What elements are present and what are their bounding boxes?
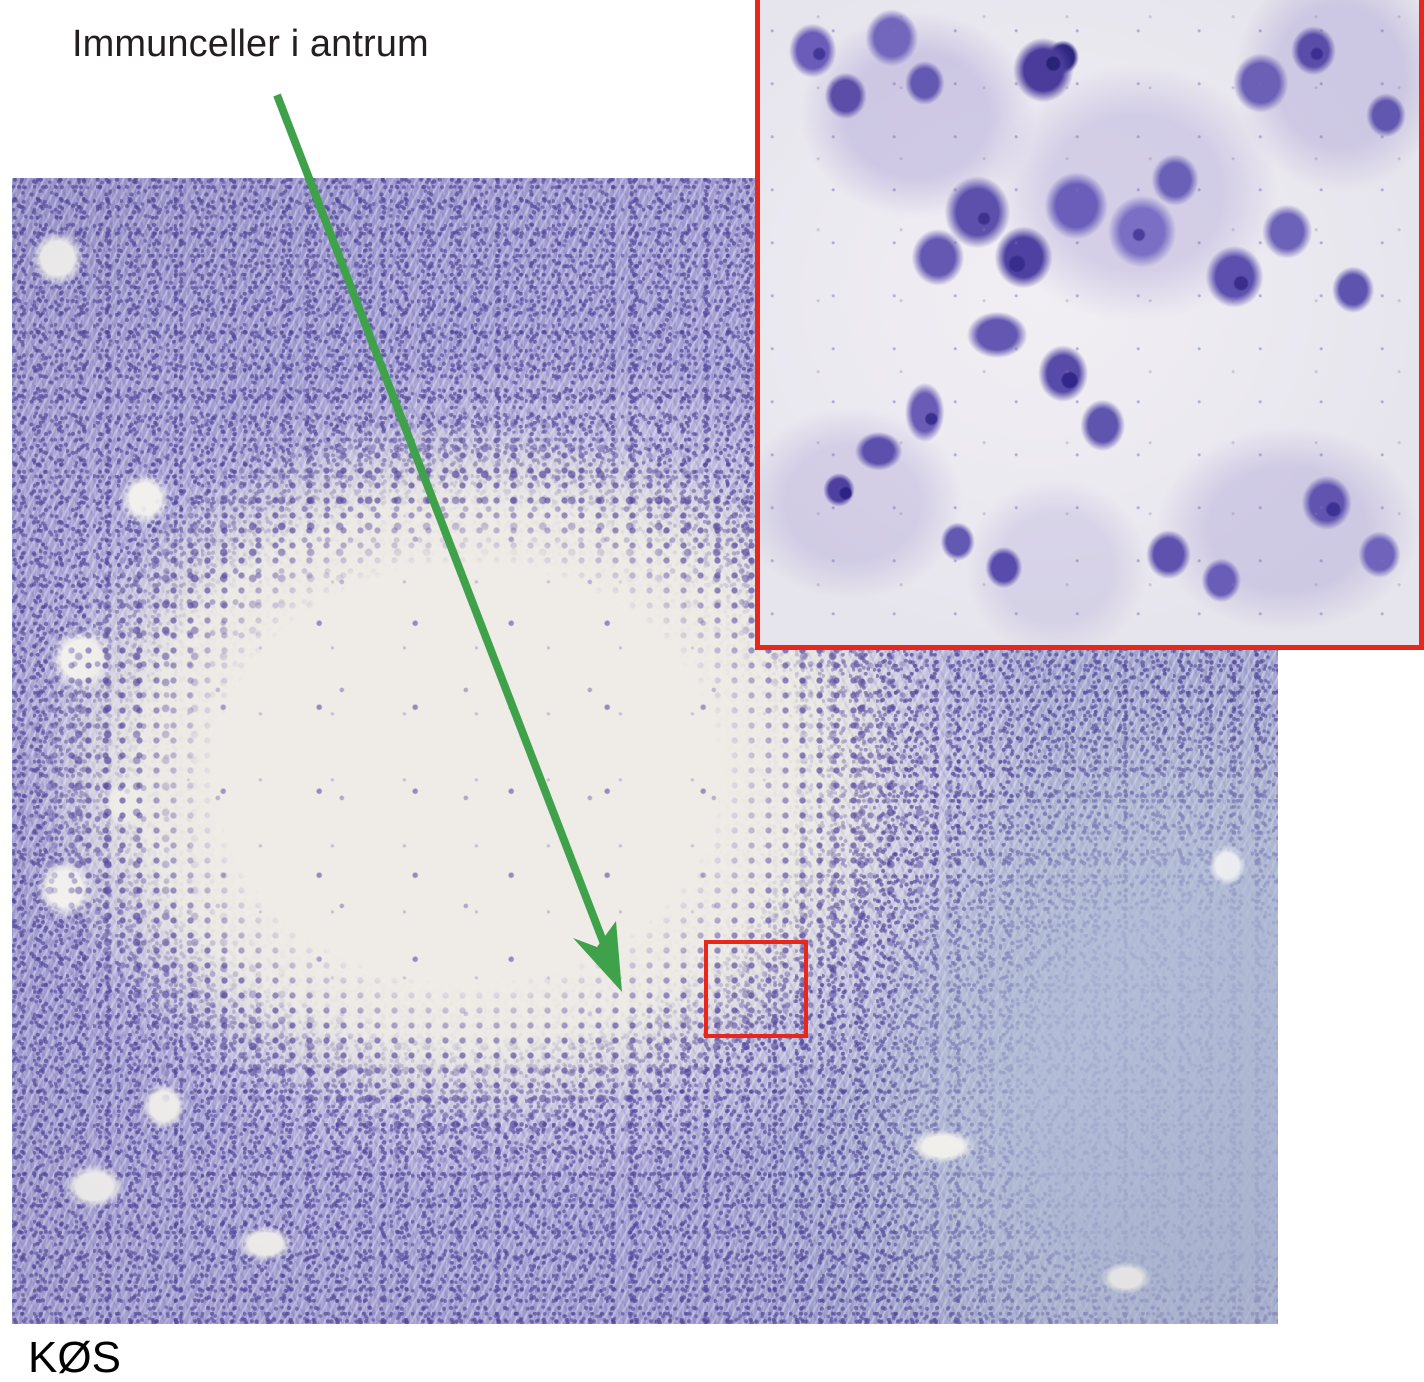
high-magnification-inset <box>755 0 1424 650</box>
bottom-caption: KØS <box>28 1334 121 1382</box>
page-title: Immunceller i antrum <box>72 22 429 66</box>
red-roi-rectangle <box>704 940 808 1038</box>
inset-debris-layer <box>760 0 1419 645</box>
